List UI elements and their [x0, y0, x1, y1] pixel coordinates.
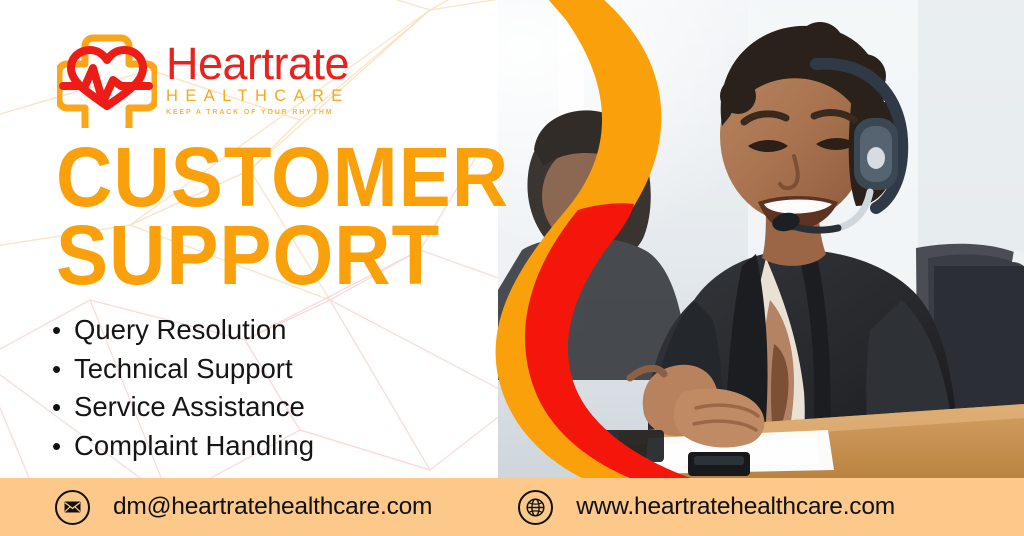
service-label: Complaint Handling [74, 429, 314, 462]
medical-cross-heart-pulse-icon [57, 28, 157, 128]
brand-tagline: KEEP A TRACK OF YOUR RHYTHM [166, 108, 350, 118]
brand-logo: Heartrate HEALTHCARE KEEP A TRACK OF YOU… [57, 28, 350, 128]
headline-line-2: SUPPORT [56, 216, 509, 294]
customer-support-banner: Heartrate HEALTHCARE KEEP A TRACK OF YOU… [0, 0, 1024, 536]
page-title: CUSTOMER SUPPORT [56, 138, 509, 294]
service-label: Service Assistance [74, 390, 305, 423]
list-item: • Query Resolution [52, 313, 314, 347]
email-contact[interactable]: dm@heartratehealthcare.com [55, 490, 432, 525]
services-list: • Query Resolution • Technical Support •… [52, 313, 314, 467]
list-item: • Service Assistance [52, 390, 314, 424]
website-contact[interactable]: www.heartratehealthcare.com [518, 490, 895, 525]
service-label: Query Resolution [74, 313, 286, 346]
website-url: www.heartratehealthcare.com [576, 493, 895, 521]
bullet-dot-icon: • [52, 314, 74, 347]
list-item: • Complaint Handling [52, 429, 314, 463]
list-item: • Technical Support [52, 352, 314, 386]
email-address: dm@heartratehealthcare.com [113, 493, 432, 521]
swoosh-divider [470, 0, 770, 482]
bullet-dot-icon: • [52, 391, 74, 424]
contact-footer-bar: dm@heartratehealthcare.com www.heartrate… [0, 478, 1024, 536]
service-label: Technical Support [74, 352, 293, 385]
brand-name: Heartrate [166, 41, 350, 86]
globe-icon [518, 490, 553, 525]
headline-line-1: CUSTOMER [56, 138, 509, 216]
envelope-icon [55, 490, 90, 525]
bullet-dot-icon: • [52, 353, 74, 386]
bullet-dot-icon: • [52, 430, 74, 463]
brand-subtitle: HEALTHCARE [166, 87, 350, 106]
